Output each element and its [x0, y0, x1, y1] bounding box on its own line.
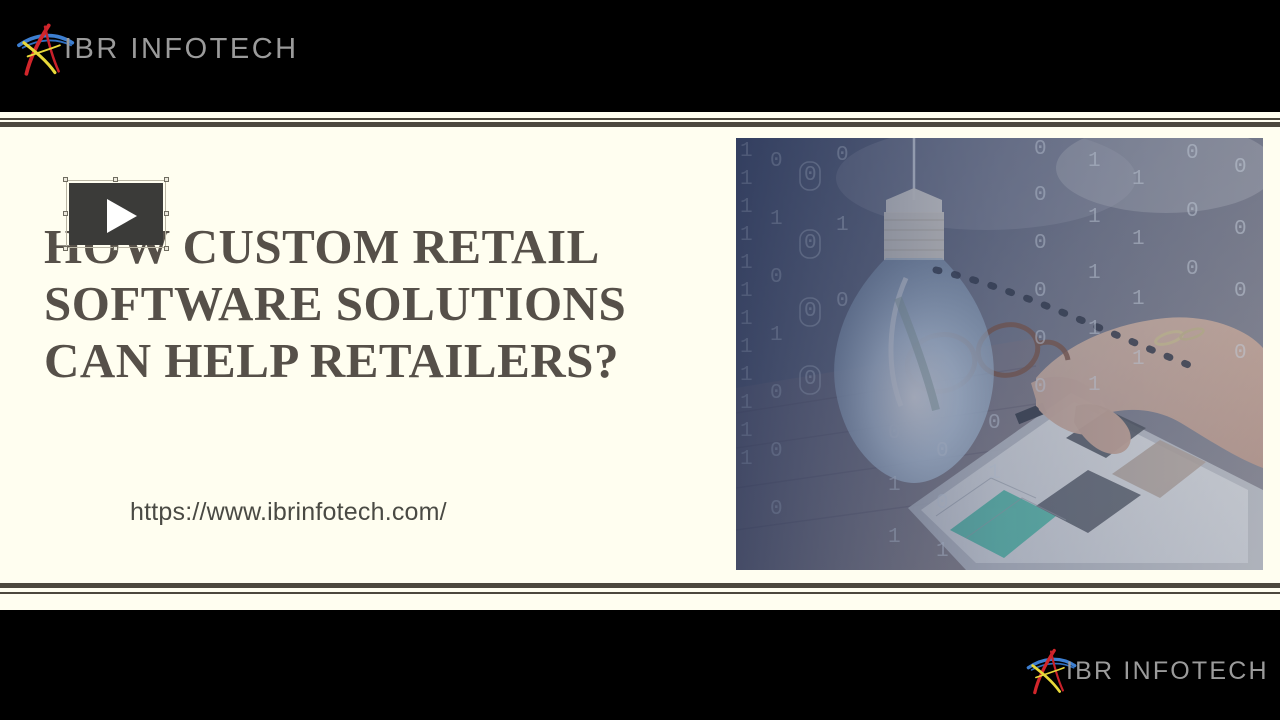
resize-handle-top-center[interactable] [113, 177, 118, 182]
resize-handle-middle-right[interactable] [164, 211, 169, 216]
brand-logo-text: IBR INFOTECH [1066, 657, 1269, 686]
hero-image-illustration: 111 111 111 111 010 100 0 000 0 010 011 … [736, 138, 1263, 570]
brand-logo-footer[interactable]: IBR INFOTECH [1024, 644, 1269, 698]
website-url[interactable]: https://www.ibrinfotech.com/ [130, 498, 447, 527]
presentation-slide: IBR INFOTECH HOW CUSTOM RETAIL SOFTWARE … [0, 0, 1280, 720]
resize-handle-bottom-left[interactable] [63, 246, 68, 251]
divider-bottom-thin [0, 592, 1280, 594]
brand-logo-text: IBR INFOTECH [64, 33, 299, 66]
divider-bottom-thick [0, 583, 1280, 588]
resize-handle-middle-left[interactable] [63, 211, 68, 216]
divider-top-thin [0, 118, 1280, 120]
video-play-placeholder[interactable] [66, 180, 166, 248]
divider-top-thick [0, 122, 1280, 127]
resize-handle-bottom-center[interactable] [113, 246, 118, 251]
hero-image: 111 111 111 111 010 100 0 000 0 010 011 … [736, 138, 1263, 570]
play-triangle-icon [107, 199, 137, 233]
slide-title-line-2: SOFTWARE SOLUTIONS [44, 275, 684, 332]
play-button[interactable] [69, 183, 163, 245]
resize-handle-top-right[interactable] [164, 177, 169, 182]
brand-logo-header[interactable]: IBR INFOTECH [14, 18, 299, 80]
slide-title-line-3: CAN HELP RETAILERS? [44, 332, 684, 389]
resize-handle-bottom-right[interactable] [164, 246, 169, 251]
resize-handle-top-left[interactable] [63, 177, 68, 182]
